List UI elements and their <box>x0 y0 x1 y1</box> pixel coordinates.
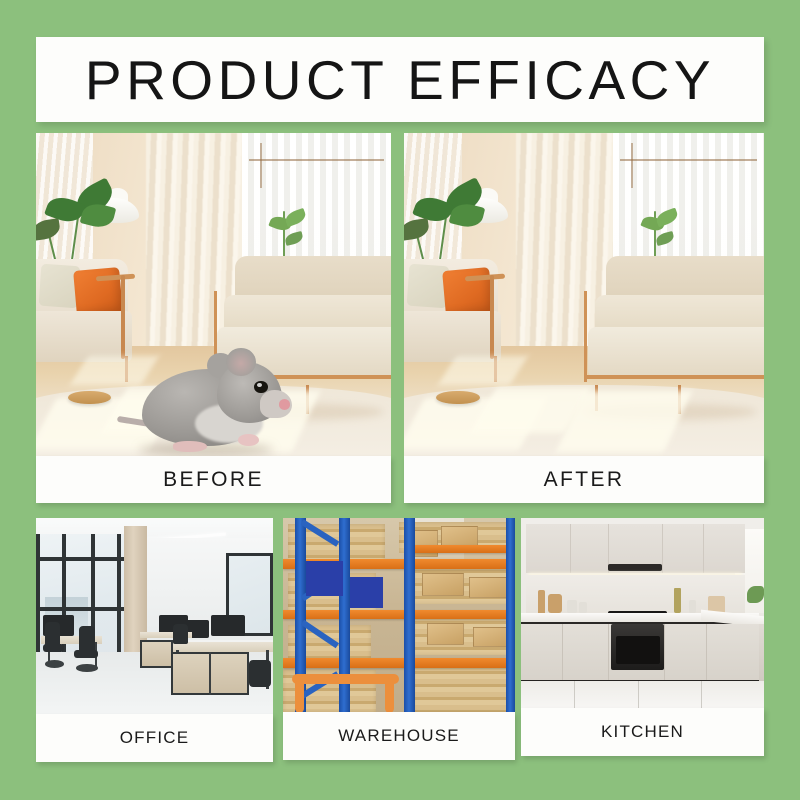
jar <box>689 600 696 613</box>
armchair-seat <box>36 311 132 363</box>
storage-cabinet <box>140 640 173 668</box>
rack-beam <box>408 545 515 553</box>
pallet-load <box>413 666 515 713</box>
rack-beam <box>283 610 515 620</box>
oil-bottle <box>674 588 681 613</box>
rodent-pest <box>135 337 291 453</box>
rack-signage <box>350 577 382 608</box>
office-scene <box>36 518 273 715</box>
floor-tile-seam <box>701 681 702 708</box>
biscuit-on-floor <box>436 391 479 405</box>
office-chair-base <box>76 664 97 672</box>
armchair-arm <box>121 275 125 359</box>
monitor <box>211 615 244 637</box>
before-image-panel <box>36 133 391 456</box>
office-chair-back <box>173 624 187 644</box>
warehouse-caption-card: WAREHOUSE <box>283 712 515 760</box>
cutting-board <box>548 594 563 613</box>
kitchen-scene <box>521 518 764 708</box>
cardboard-crate <box>469 577 508 598</box>
kitchen-image-panel <box>521 518 764 708</box>
rodent-hind-paw <box>173 441 207 451</box>
rack-upright <box>339 518 351 713</box>
kitchen-caption-label: KITCHEN <box>601 722 684 742</box>
office-chair-seat <box>74 650 98 658</box>
cardboard-crate <box>427 623 464 644</box>
living-room-scene <box>36 133 391 456</box>
window-mullion <box>36 534 40 656</box>
rodent-nose <box>279 399 290 409</box>
cabinet-seam <box>608 624 609 681</box>
warehouse-photo <box>283 518 515 713</box>
rodent-front-paw <box>238 434 258 446</box>
sofa-frame-bottom <box>584 375 764 379</box>
kitchen-caption-card: KITCHEN <box>521 708 764 756</box>
rack-upright <box>404 518 416 713</box>
window-frame-vertical <box>631 143 633 188</box>
safety-rail-post <box>385 678 394 713</box>
sofa-seat <box>588 327 764 379</box>
biscuit-on-floor <box>68 391 111 405</box>
cardboard-crate <box>422 573 464 596</box>
rack-signage <box>306 561 343 596</box>
range-hood <box>608 564 661 572</box>
kitchen-photo <box>521 518 764 708</box>
cutting-board <box>538 590 545 613</box>
window-frame <box>249 159 384 161</box>
sofa-frame <box>584 291 587 381</box>
after-caption-label: AFTER <box>544 468 625 492</box>
window-frame-vertical <box>260 143 262 188</box>
office-photo <box>36 518 273 715</box>
office-chair-seat <box>43 644 64 652</box>
armchair-seat <box>404 311 501 363</box>
before-caption-card: BEFORE <box>36 456 391 503</box>
cabinet-seam <box>703 524 704 573</box>
safety-rail <box>292 674 399 684</box>
cabinet-seam <box>570 524 571 573</box>
before-caption-label: BEFORE <box>163 468 264 492</box>
armchair-arm <box>490 275 494 359</box>
before-photo <box>36 133 391 456</box>
floor-tile-seam <box>638 681 639 708</box>
page-title: PRODUCT EFFICACY <box>85 48 715 112</box>
cabinet-divider <box>209 652 211 695</box>
office-caption-card: OFFICE <box>36 714 273 762</box>
cabinet-seam <box>664 624 665 681</box>
safety-rail-post <box>295 678 304 713</box>
after-caption-card: AFTER <box>404 456 764 503</box>
window-frame <box>620 159 757 161</box>
floor-tile-seam <box>574 681 575 708</box>
tiled-floor <box>521 681 764 708</box>
cream-pillow <box>406 264 448 309</box>
office-image-panel <box>36 518 273 715</box>
rack-beam <box>283 658 515 668</box>
rodent-ear <box>226 348 256 376</box>
after-image-panel <box>404 133 764 456</box>
office-chair-base <box>45 660 64 668</box>
cabinet-seam <box>562 624 563 681</box>
rack-upright <box>506 518 515 713</box>
jar <box>579 602 586 613</box>
cabinet-seam <box>662 524 663 573</box>
warehouse-caption-label: WAREHOUSE <box>338 726 460 746</box>
jar <box>567 600 577 613</box>
cabinet-seam <box>706 624 707 681</box>
oven-door-glass <box>616 636 660 665</box>
office-chair-back <box>249 660 270 688</box>
warehouse-image-panel <box>283 518 515 713</box>
living-room-scene-clean <box>404 133 764 456</box>
window-mullion <box>117 534 121 656</box>
after-photo <box>404 133 764 456</box>
infographic-page: PRODUCT EFFICACY <box>0 0 800 800</box>
title-banner: PRODUCT EFFICACY <box>36 37 764 122</box>
warehouse-scene <box>283 518 515 713</box>
office-caption-label: OFFICE <box>120 728 190 748</box>
